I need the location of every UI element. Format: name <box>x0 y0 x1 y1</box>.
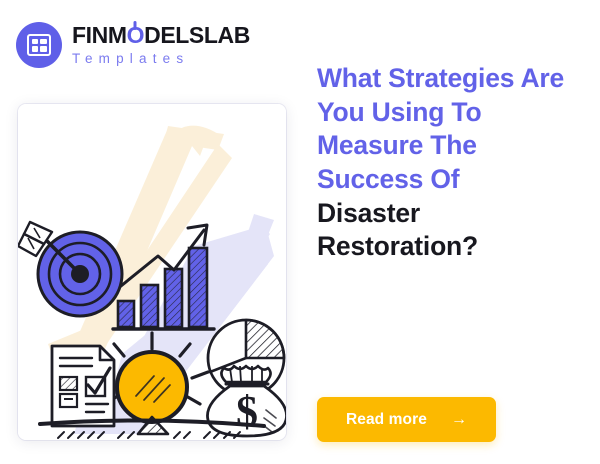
promo-banner: FINMODELSLAB Templates <box>0 0 600 464</box>
read-more-button[interactable]: Read more → <box>317 397 496 442</box>
grid-cell <box>40 46 46 51</box>
business-analytics-illustration: $ <box>18 104 286 440</box>
headline-question-line: You Using To <box>317 96 585 130</box>
document-checklist-illustration <box>52 346 114 426</box>
grid-cell <box>32 39 38 44</box>
brand-name: FINMODELSLAB <box>72 24 250 47</box>
svg-text:$: $ <box>236 387 258 436</box>
brand-power-o-icon: O <box>127 22 145 48</box>
headline-question-line: Success Of <box>317 163 585 197</box>
headline: What Strategies Are You Using To Measure… <box>317 62 585 264</box>
headline-question-line: What Strategies Are <box>317 62 585 96</box>
headline-topic-line: Disaster <box>317 197 585 231</box>
arrow-right-icon: → <box>451 412 467 428</box>
read-more-label: Read more <box>346 411 427 429</box>
illustration-card: $ <box>18 104 286 440</box>
brand-name-part1: FINM <box>72 22 127 48</box>
headline-question-line: Measure The <box>317 129 585 163</box>
brand-text: FINMODELSLAB Templates <box>72 24 250 66</box>
grid-squares-icon <box>27 34 51 56</box>
brand-logo: FINMODELSLAB Templates <box>16 22 250 68</box>
headline-topic-line: Restoration? <box>317 230 585 264</box>
grid-cell <box>32 46 38 51</box>
grid-cell <box>40 39 46 44</box>
brand-tagline: Templates <box>72 52 250 66</box>
brand-name-part2: DELSLAB <box>144 22 250 48</box>
finmodelslab-logo-icon <box>16 22 62 68</box>
